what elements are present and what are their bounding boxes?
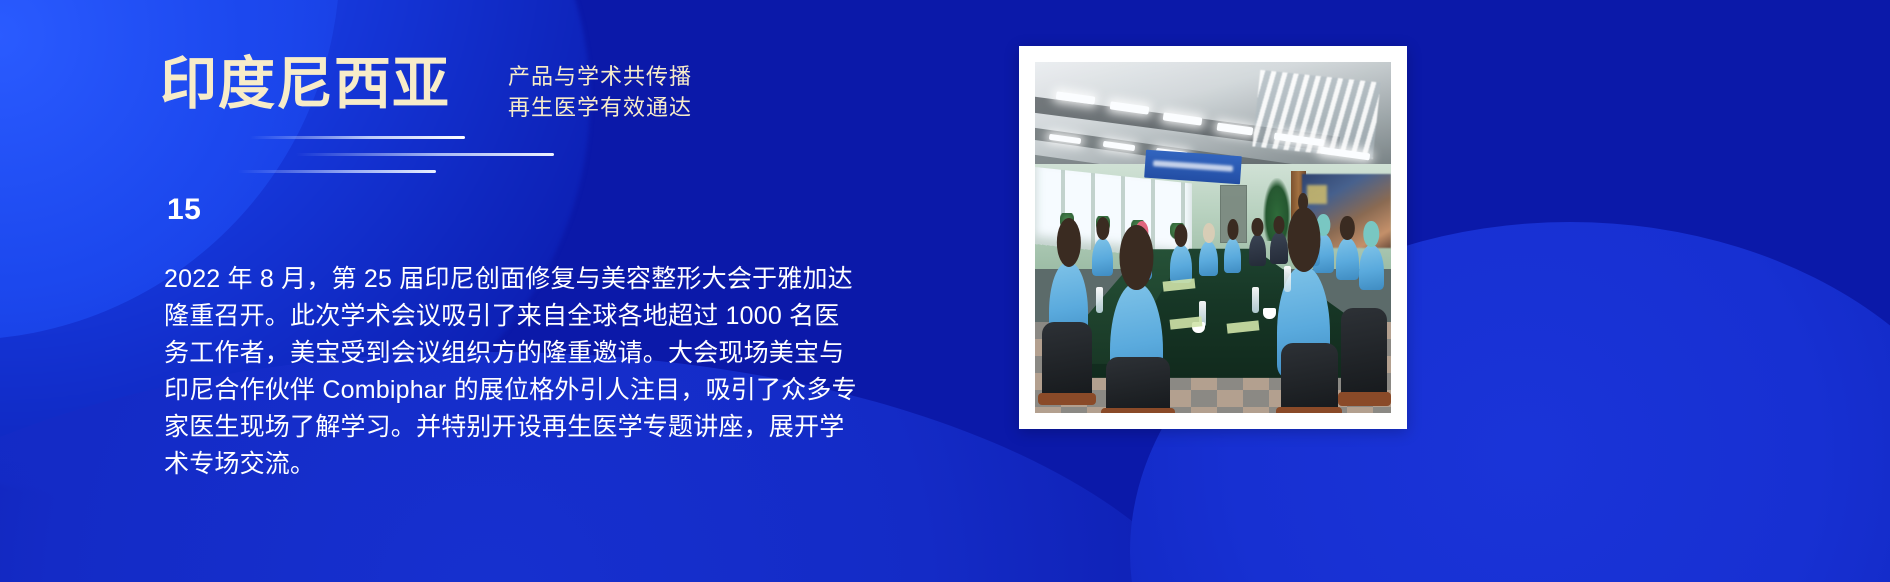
subtitle-line-2: 再生医学有效通达 [508,92,692,123]
photo-attendee [1170,245,1191,284]
decorative-accent-lines [238,136,558,182]
photo-chair [1042,322,1092,399]
title-subtitle: 产品与学术共传播 再生医学有效通达 [508,61,692,123]
presentation-slide: 印度尼西亚 产品与学术共传播 再生医学有效通达 15 2022 年 8 月，第 … [0,0,1890,582]
photo-water-bottle [1096,287,1103,313]
title-block: 印度尼西亚 产品与学术共传播 再生医学有效通达 [160,56,780,186]
accent-line-2 [296,153,554,156]
photo-frame [1019,46,1407,429]
photo-attendee [1270,232,1288,264]
accent-line-1 [250,136,465,139]
photo-chair [1106,357,1170,413]
subtitle-line-1: 产品与学术共传播 [508,61,692,92]
photo-attendee [1359,245,1384,291]
conference-photo [1035,62,1391,413]
photo-chair [1281,343,1338,413]
photo-cup [1263,308,1276,319]
photo-chandelier [1252,70,1380,159]
photo-chair [1341,308,1387,399]
item-number: 15 [167,193,201,227]
accent-line-3 [238,170,436,173]
photo-water-bottle [1284,266,1291,292]
body-paragraph: 2022 年 8 月，第 25 届印尼创面修复与美容整形大会于雅加达隆重召开。此… [164,261,864,483]
photo-water-bottle [1252,287,1259,313]
